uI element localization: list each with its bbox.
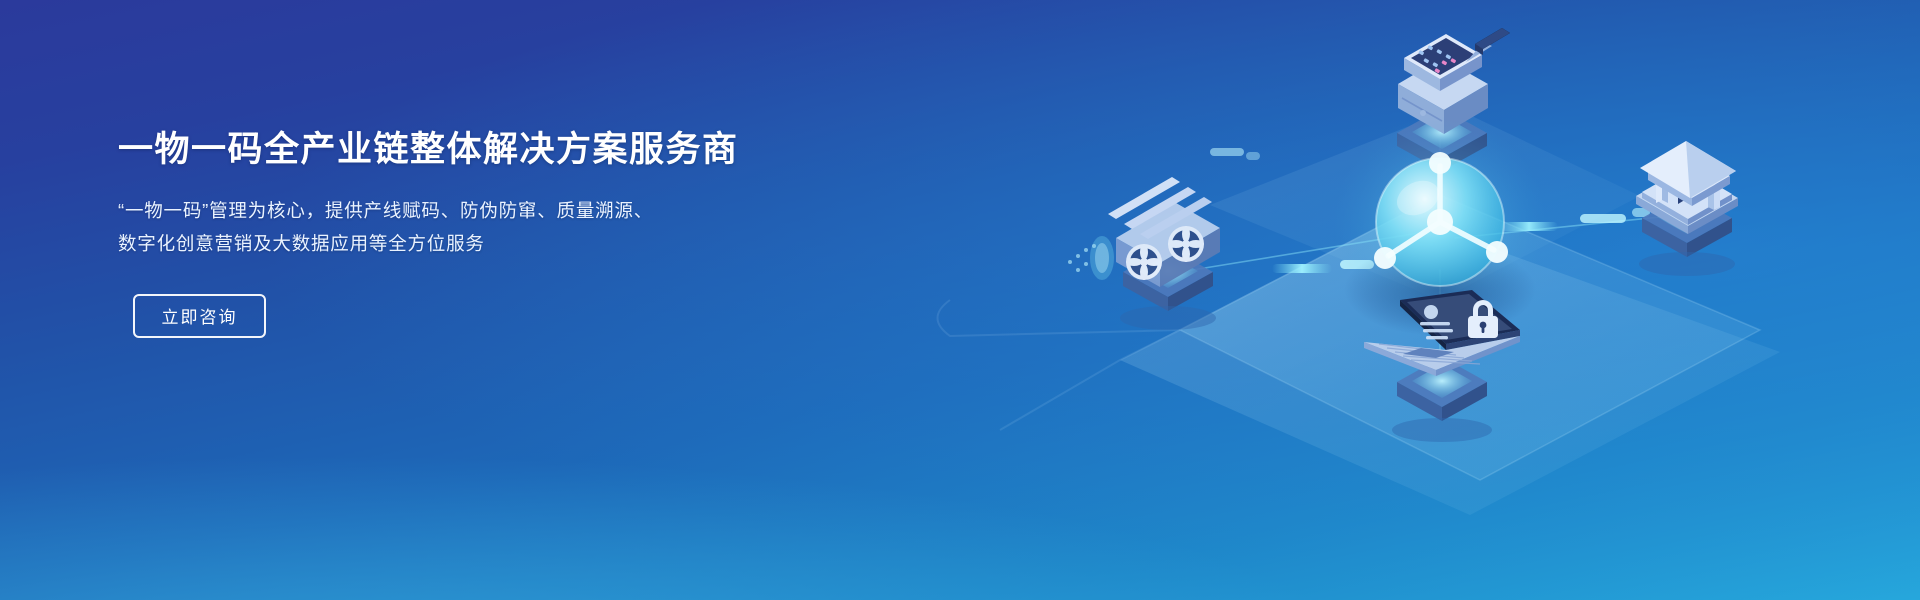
bank-building-icon — [1636, 0, 1738, 234]
consult-now-button[interactable]: 立即咨询 — [133, 294, 266, 338]
hero-subtitle: “一物一码”管理为核心，提供产线赋码、防伪防窜、质量溯源、 数字化创意营销及大数… — [118, 194, 739, 260]
hero-copy: 一物一码全产业链整体解决方案服务商 “一物一码”管理为核心，提供产线赋码、防伪防… — [118, 128, 739, 338]
subtitle-line-1: “一物一码”管理为核心，提供产线赋码、防伪防窜、质量溯源、 — [118, 194, 739, 227]
hero-illustration — [880, 0, 1920, 600]
subtitle-line-2: 数字化创意营销及大数据应用等全方位服务 — [118, 227, 739, 260]
hero-banner: 一物一码全产业链整体解决方案服务商 “一物一码”管理为核心，提供产线赋码、防伪防… — [0, 0, 1920, 600]
page-title: 一物一码全产业链整体解决方案服务商 — [118, 128, 739, 172]
